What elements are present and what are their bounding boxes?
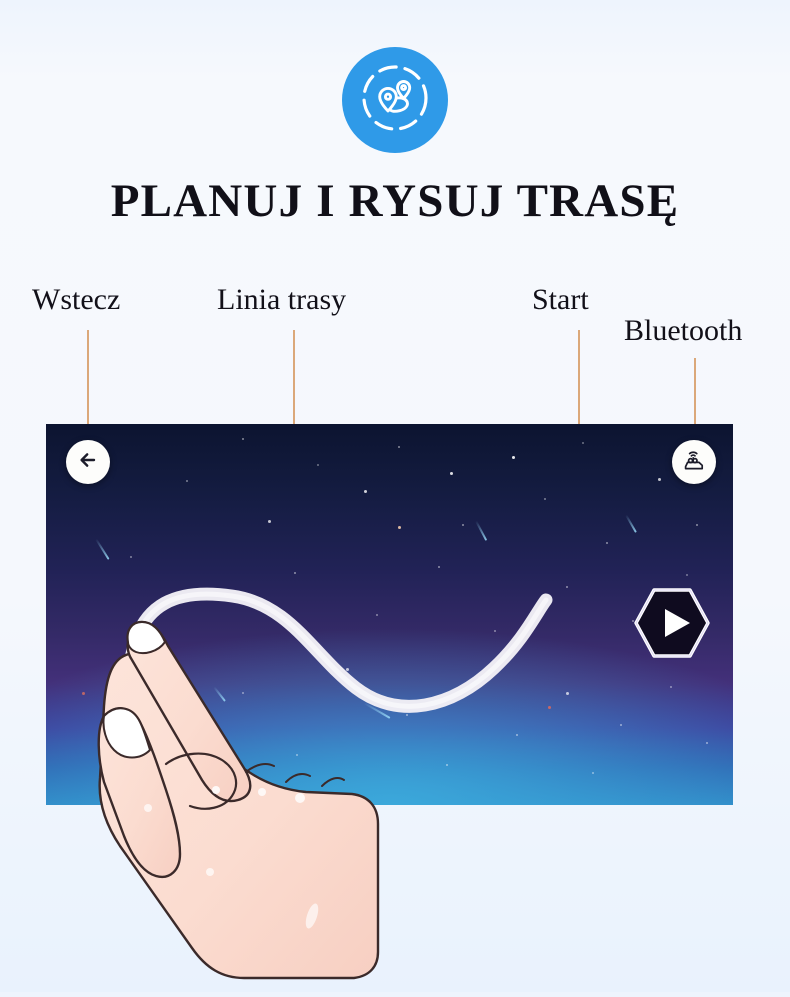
- brand-badge-container: [0, 47, 790, 153]
- callout-label-start: Start: [532, 283, 589, 317]
- callout-label-bluetooth: Bluetooth: [624, 314, 742, 348]
- bluetooth-car-icon: [680, 446, 708, 479]
- callout-label-back: Wstecz: [32, 283, 120, 317]
- back-button[interactable]: [66, 440, 110, 484]
- bluetooth-button[interactable]: [672, 440, 716, 484]
- brand-badge: [342, 47, 448, 153]
- route-line: [46, 424, 733, 805]
- callout-label-route: Linia trasy: [217, 283, 346, 317]
- device-screen: [46, 424, 733, 805]
- map-pins-route-icon: [357, 60, 433, 141]
- page-title: PLANUJ I RYSUJ TRASĘ: [0, 176, 790, 227]
- page-root: PLANUJ I RYSUJ TRASĘ Wstecz Linia trasy …: [0, 0, 790, 992]
- start-button[interactable]: [633, 587, 711, 659]
- arrow-left-icon: [77, 449, 99, 476]
